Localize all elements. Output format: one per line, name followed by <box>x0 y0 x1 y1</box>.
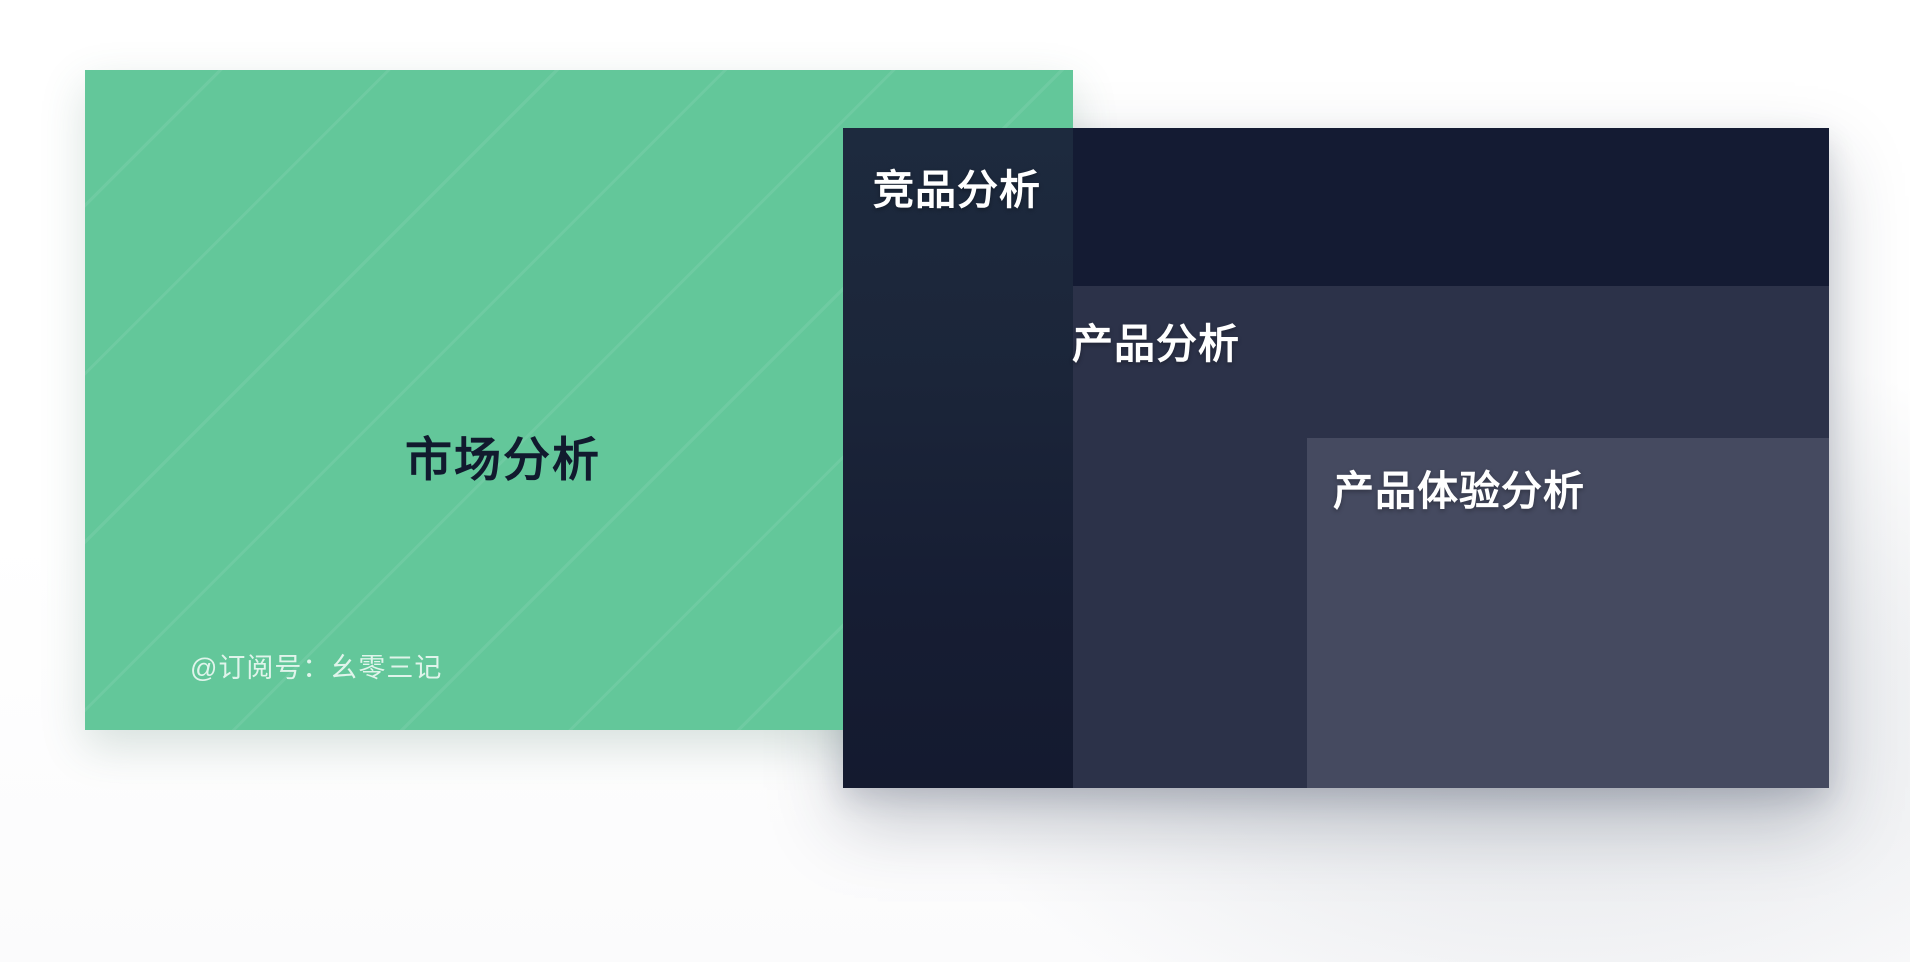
product-analysis-spine <box>1073 438 1307 788</box>
competitor-analysis-spine <box>843 128 1073 788</box>
product-analysis-label: 产品分析 <box>1072 324 1240 365</box>
slide-canvas: 市场分析 @订阅号：幺零三记 竞品分析 产品分析 产品体验分析 <box>0 0 1910 962</box>
watermark-text: @订阅号：幺零三记 <box>190 655 442 682</box>
analysis-stack: 竞品分析 产品分析 产品体验分析 <box>843 128 1829 788</box>
competitor-analysis-label: 竞品分析 <box>873 170 1041 211</box>
competitor-analysis-band[interactable] <box>1073 128 1829 286</box>
product-experience-analysis-label: 产品体验分析 <box>1333 471 1585 512</box>
